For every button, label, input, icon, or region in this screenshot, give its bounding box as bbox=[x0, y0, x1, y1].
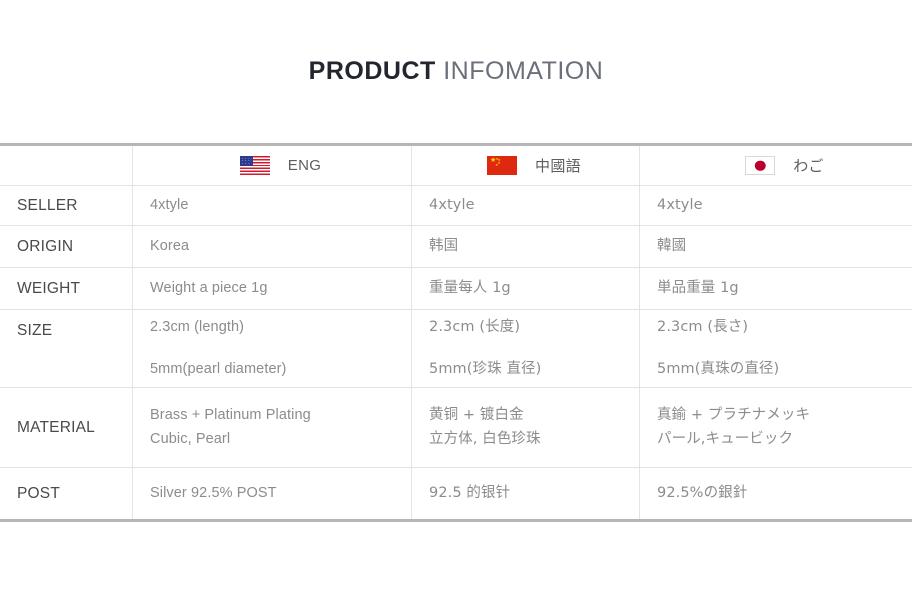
row-label-seller: SELLER bbox=[17, 197, 132, 215]
page-title: PRODUCT INFOMATION bbox=[309, 59, 604, 84]
value-weight-jpn: 単品重量 1g bbox=[657, 278, 912, 299]
row-label-cell: SIZE bbox=[0, 310, 133, 387]
header-cell-jpn: わご bbox=[640, 146, 912, 185]
value-size-jpn-line2: 5mm(真珠の直径) bbox=[657, 349, 912, 390]
table-row-weight: WEIGHT Weight a piece 1g 重量每人 1g 単品重量 1g bbox=[0, 268, 912, 310]
cell-seller-eng: 4xtyle bbox=[133, 186, 412, 225]
table-row-post: POST Silver 92.5% POST 92.5 的银针 92.5%の銀針 bbox=[0, 468, 912, 519]
page-title-light: INFOMATION bbox=[436, 57, 604, 85]
row-label-size: SIZE bbox=[17, 322, 132, 340]
value-origin-chn: 韩国 bbox=[429, 236, 639, 257]
value-size-eng-line2: 5mm(pearl diameter) bbox=[150, 349, 411, 390]
cell-seller-jpn: 4xtyle bbox=[640, 186, 912, 225]
header-corner-cell bbox=[0, 146, 133, 185]
header-cell-eng: ENG bbox=[133, 146, 412, 185]
value-weight-chn: 重量每人 1g bbox=[429, 278, 639, 299]
value-post-jpn: 92.5%の銀針 bbox=[657, 483, 912, 504]
product-information-table: ENG ★★★★ 中國語 わご SELLER 4xtyle 4xtyle 4 bbox=[0, 143, 912, 522]
cn-flag-icon: ★★★★ bbox=[487, 156, 517, 175]
cell-origin-jpn: 韓國 bbox=[640, 226, 912, 267]
value-seller-eng: 4xtyle bbox=[150, 195, 411, 216]
value-seller-jpn: 4xtyle bbox=[657, 195, 912, 216]
cell-origin-eng: Korea bbox=[133, 226, 412, 267]
cell-weight-eng: Weight a piece 1g bbox=[133, 268, 412, 309]
cell-seller-chn: 4xtyle bbox=[412, 186, 640, 225]
cell-material-chn: 黄铜 + 镀白金 立方体, 白色珍珠 bbox=[412, 388, 640, 467]
page-title-strong: PRODUCT bbox=[309, 57, 436, 85]
cell-material-jpn: 真鍮 + プラチナメッキ パール,キュービック bbox=[640, 388, 912, 467]
value-material-eng-line2: Cubic, Pearl bbox=[150, 428, 411, 452]
header-label-chn: 中國語 bbox=[535, 155, 581, 176]
value-weight-eng: Weight a piece 1g bbox=[150, 278, 411, 299]
value-post-chn: 92.5 的银针 bbox=[429, 483, 639, 504]
row-label-material: MATERIAL bbox=[17, 419, 132, 437]
value-origin-eng: Korea bbox=[150, 236, 411, 257]
cell-size-chn: 2.3cm (长度) 5mm(珍珠 直径) bbox=[412, 310, 640, 387]
row-label-weight: WEIGHT bbox=[17, 280, 132, 298]
cell-post-chn: 92.5 的银针 bbox=[412, 468, 640, 519]
value-size-eng-line1: 2.3cm (length) bbox=[150, 307, 411, 348]
value-material-jpn-line2: パール,キュービック bbox=[657, 428, 912, 452]
row-label-cell: ORIGIN bbox=[0, 226, 133, 267]
cell-weight-chn: 重量每人 1g bbox=[412, 268, 640, 309]
cell-weight-jpn: 単品重量 1g bbox=[640, 268, 912, 309]
value-post-eng: Silver 92.5% POST bbox=[150, 483, 411, 504]
header-label-eng: ENG bbox=[288, 157, 321, 174]
row-label-post: POST bbox=[17, 485, 132, 503]
value-seller-chn: 4xtyle bbox=[429, 195, 639, 216]
table-row-size: SIZE 2.3cm (length) 5mm(pearl diameter) … bbox=[0, 310, 912, 388]
value-size-chn-line1: 2.3cm (长度) bbox=[429, 307, 639, 348]
value-origin-jpn: 韓國 bbox=[657, 236, 912, 257]
table-row-material: MATERIAL Brass + Platinum Plating Cubic,… bbox=[0, 388, 912, 468]
cell-post-jpn: 92.5%の銀針 bbox=[640, 468, 912, 519]
table-header-row: ENG ★★★★ 中國語 わご bbox=[0, 146, 912, 186]
row-label-origin: ORIGIN bbox=[17, 238, 132, 256]
value-size-chn-line2: 5mm(珍珠 直径) bbox=[429, 349, 639, 390]
row-label-cell: POST bbox=[0, 468, 133, 519]
page-title-area: PRODUCT INFOMATION bbox=[0, 0, 912, 143]
cell-size-jpn: 2.3cm (長さ) 5mm(真珠の直径) bbox=[640, 310, 912, 387]
cell-size-eng: 2.3cm (length) 5mm(pearl diameter) bbox=[133, 310, 412, 387]
table-row-seller: SELLER 4xtyle 4xtyle 4xtyle bbox=[0, 186, 912, 226]
header-label-jpn: わご bbox=[793, 155, 824, 176]
value-material-chn-line2: 立方体, 白色珍珠 bbox=[429, 428, 639, 452]
value-material-jpn-line1: 真鍮 + プラチナメッキ bbox=[657, 404, 912, 428]
header-cell-chn: ★★★★ 中國語 bbox=[412, 146, 640, 185]
value-material-eng-line1: Brass + Platinum Plating bbox=[150, 404, 411, 428]
us-flag-icon bbox=[240, 156, 270, 175]
cell-material-eng: Brass + Platinum Plating Cubic, Pearl bbox=[133, 388, 412, 467]
table-row-origin: ORIGIN Korea 韩国 韓國 bbox=[0, 226, 912, 268]
row-label-cell: WEIGHT bbox=[0, 268, 133, 309]
jp-flag-icon bbox=[745, 156, 775, 175]
row-label-cell: SELLER bbox=[0, 186, 133, 225]
cell-origin-chn: 韩国 bbox=[412, 226, 640, 267]
row-label-cell: MATERIAL bbox=[0, 388, 133, 467]
cell-post-eng: Silver 92.5% POST bbox=[133, 468, 412, 519]
value-material-chn-line1: 黄铜 + 镀白金 bbox=[429, 404, 639, 428]
value-size-jpn-line1: 2.3cm (長さ) bbox=[657, 307, 912, 348]
